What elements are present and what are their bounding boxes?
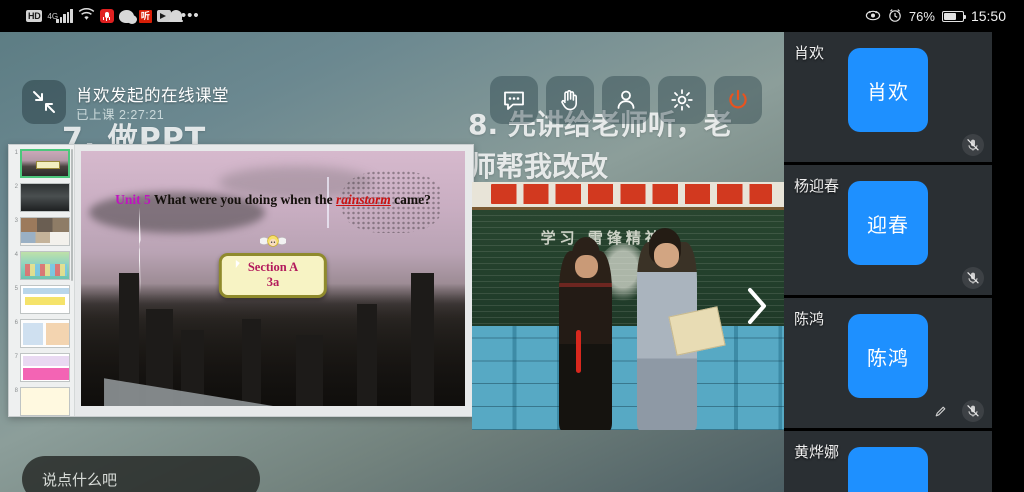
slide-title: Unit 5 What were you doing when the rain… (81, 192, 465, 208)
mouse-cursor-icon (236, 260, 240, 268)
eye-comfort-icon (865, 8, 881, 24)
minimize-arrows-icon[interactable] (22, 80, 66, 124)
edit-pencil-icon[interactable] (932, 402, 950, 420)
slide-thumbnail-list[interactable]: 1 2 3 4 5 (9, 145, 75, 416)
participant-tile-1[interactable]: 肖欢 肖欢 (784, 32, 992, 165)
section-label: Section A (248, 260, 298, 275)
slide-thumb-2[interactable]: 2 (11, 183, 72, 213)
mic-muted-icon[interactable] (962, 134, 984, 156)
app-screen: HD 4G 听 ••• 76% 15:50 (0, 0, 1024, 492)
clock-label: 15:50 (971, 8, 1006, 24)
ppt-viewer[interactable]: 1 2 3 4 5 (8, 144, 474, 417)
slide-thumb-image (20, 387, 70, 416)
mic-muted-icon[interactable] (962, 400, 984, 422)
wechat-icon (119, 10, 134, 23)
wall-posters-graphic (491, 184, 772, 204)
chat-bubble-icon[interactable] (490, 76, 538, 124)
slide-thumb-5[interactable]: 5 (11, 285, 72, 315)
tile-status-icons (932, 400, 984, 422)
slide-thumb-image (20, 285, 70, 314)
participant-name: 肖欢 (794, 42, 824, 63)
slide-canvas[interactable]: Unit 5 What were you doing when the rain… (75, 145, 473, 416)
meeting-toolbar (490, 76, 762, 124)
tile-status-icons (962, 267, 984, 289)
battery-icon (942, 11, 964, 22)
participant-tile-4[interactable]: 黄烨娜 (784, 431, 992, 492)
slide-thumb-image (20, 217, 70, 246)
slide-thumb-1[interactable]: 1 (11, 149, 72, 179)
raise-hand-icon[interactable] (546, 76, 594, 124)
slide-title-emphasis: rainstorm (336, 192, 391, 207)
current-slide: Unit 5 What were you doing when the rain… (81, 151, 465, 406)
mic-recording-icon (100, 9, 114, 23)
slide-thumb-3[interactable]: 3 (11, 217, 72, 247)
slide-thumb-6[interactable]: 6 (11, 319, 72, 349)
wifi-icon (78, 8, 95, 25)
chat-input[interactable]: 说点什么吧 (22, 456, 260, 492)
slide-title-end: came? (391, 192, 431, 207)
alarm-clock-icon (888, 8, 902, 25)
status-bar: HD 4G 听 ••• 76% 15:50 (0, 0, 1024, 32)
slide-thumb-image (20, 183, 70, 212)
avatar: 肖欢 (848, 48, 928, 132)
more-dots-icon: ••• (181, 13, 200, 19)
meeting-stage: 7. 做PPT 8. 先讲给老师听，老 师帮我改改 肖欢发起的在线课堂 已上课 … (0, 32, 784, 492)
meeting-elapsed-time: 已上课 2:27:21 (76, 104, 164, 123)
participant-tile-3[interactable]: 陈鸿 陈鸿 (784, 298, 992, 431)
slide-title-mid: What were you doing when the (151, 192, 336, 207)
angel-cherub-graphic (260, 233, 286, 249)
participant-tile-2[interactable]: 杨迎春 迎春 (784, 165, 992, 298)
avatar: 陈鸿 (848, 314, 928, 398)
person-teacher-graphic (559, 251, 612, 430)
mic-muted-icon[interactable] (962, 267, 984, 289)
participant-name: 杨迎春 (794, 175, 839, 196)
participants-icon[interactable] (602, 76, 650, 124)
status-bar-left-icons: HD 4G 听 ••• (0, 8, 200, 25)
chevron-right-icon[interactable] (744, 286, 770, 326)
slide-thumb-image (20, 251, 70, 280)
teacher-video-feed[interactable]: 学习 雷锋精神 (472, 182, 784, 430)
power-hangup-icon[interactable] (714, 76, 762, 124)
tile-status-icons (962, 134, 984, 156)
participant-name: 黄烨娜 (794, 441, 839, 462)
participant-rail[interactable]: 肖欢 肖欢 杨迎春 迎春 陈鸿 陈鸿 (784, 32, 992, 492)
status-bar-right: 76% 15:50 (865, 0, 1006, 32)
chat-input-placeholder: 说点什么吧 (42, 469, 117, 490)
signal-bars-icon: 4G (47, 9, 73, 23)
thumbnail-scrollbar[interactable] (71, 149, 74, 281)
ting-app-icon: 听 (139, 10, 152, 23)
slide-thumb-image (20, 353, 70, 382)
blackboard-graphic: 学习 雷锋精神 (472, 207, 784, 336)
rail-right-gutter (992, 32, 1024, 492)
avatar (848, 447, 928, 492)
slide-thumb-8[interactable]: 8 (11, 387, 72, 416)
avatar: 迎春 (848, 181, 928, 265)
section-sublabel: 3a (248, 275, 298, 290)
slide-thumb-image (20, 319, 70, 348)
slide-thumb-4[interactable]: 4 (11, 251, 72, 281)
lockers-graphic (472, 326, 784, 430)
settings-gear-icon[interactable] (658, 76, 706, 124)
classroom-photo: 学习 雷锋精神 (472, 182, 784, 430)
slide-title-unit: Unit 5 (115, 192, 151, 207)
hd-badge-icon: HD (26, 10, 42, 22)
section-callout-box: Section A 3a (219, 253, 327, 298)
participant-name: 陈鸿 (794, 308, 824, 329)
meeting-title: 肖欢发起的在线课堂 (76, 82, 229, 106)
battery-percent-label: 76% (909, 9, 935, 24)
slide-thumb-image (20, 149, 70, 178)
slide-thumb-7[interactable]: 7 (11, 353, 72, 383)
